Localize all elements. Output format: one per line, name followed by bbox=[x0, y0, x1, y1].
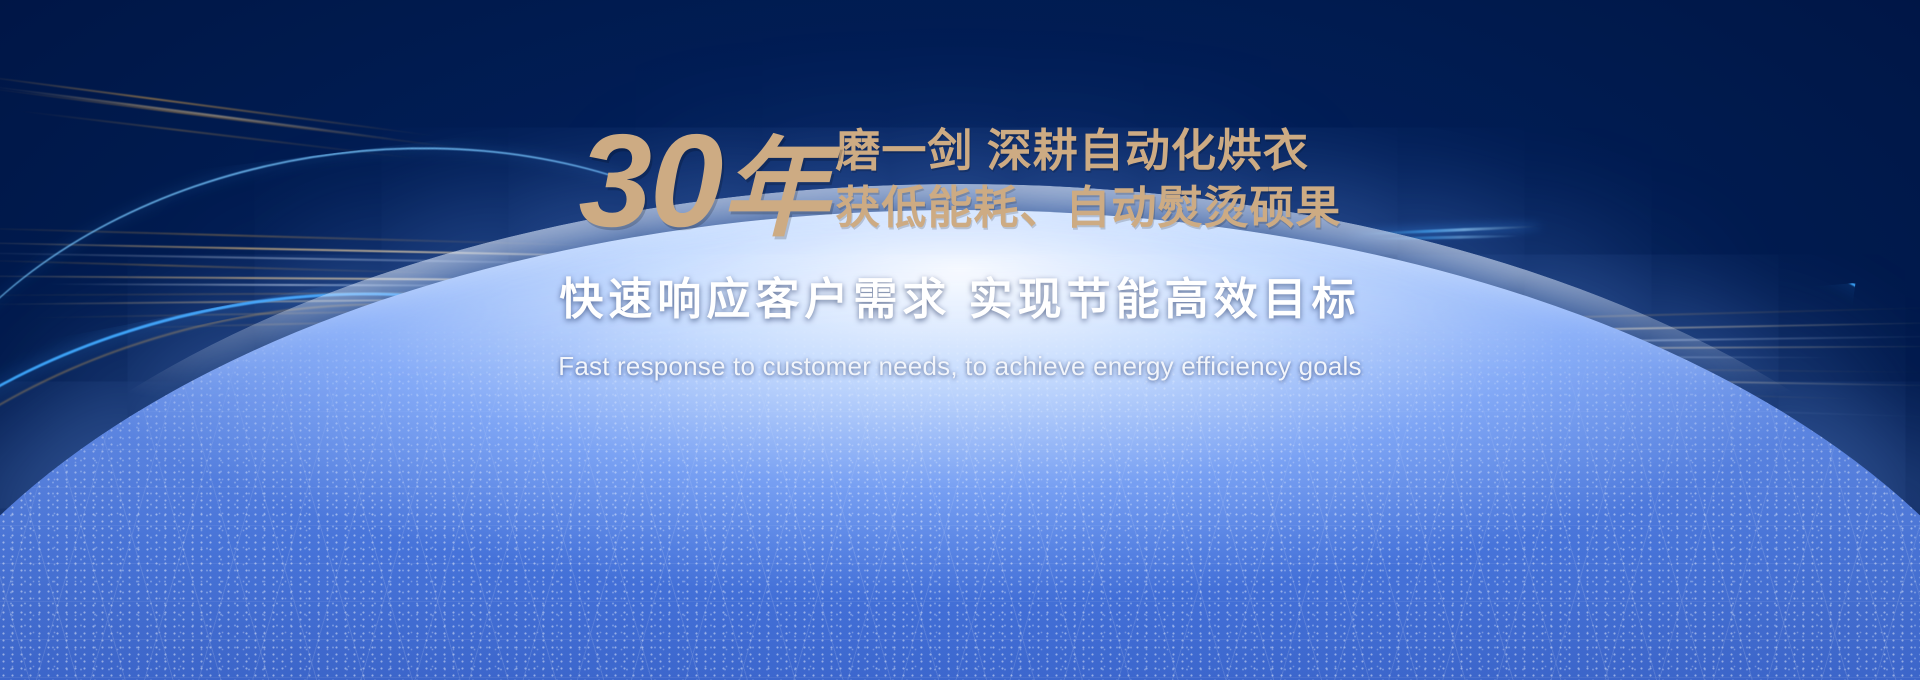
subheadline: 快速响应客户需求 实现节能高效目标 bbox=[0, 263, 1920, 327]
english-subtitle: Fast response to customer needs, to achi… bbox=[0, 351, 1920, 382]
years-number: 30 bbox=[579, 107, 722, 254]
slogan-stack: 磨一剑 深耕自动化烘衣 获低能耗、自动熨烫硕果 bbox=[835, 128, 1341, 230]
years-count: 30年 bbox=[579, 120, 830, 241]
hero-banner: 30年 磨一剑 深耕自动化烘衣 获低能耗、自动熨烫硕果 快速响应客户需求 实现节… bbox=[0, 0, 1920, 680]
slogan-line-1: 磨一剑 深耕自动化烘衣 bbox=[835, 128, 1341, 173]
banner-content: 30年 磨一剑 深耕自动化烘衣 获低能耗、自动熨烫硕果 快速响应客户需求 实现节… bbox=[0, 118, 1920, 382]
headline-row: 30年 磨一剑 深耕自动化烘衣 获低能耗、自动熨烫硕果 bbox=[0, 118, 1920, 239]
years-unit: 年 bbox=[721, 128, 829, 249]
slogan-line-2: 获低能耗、自动熨烫硕果 bbox=[835, 185, 1341, 230]
